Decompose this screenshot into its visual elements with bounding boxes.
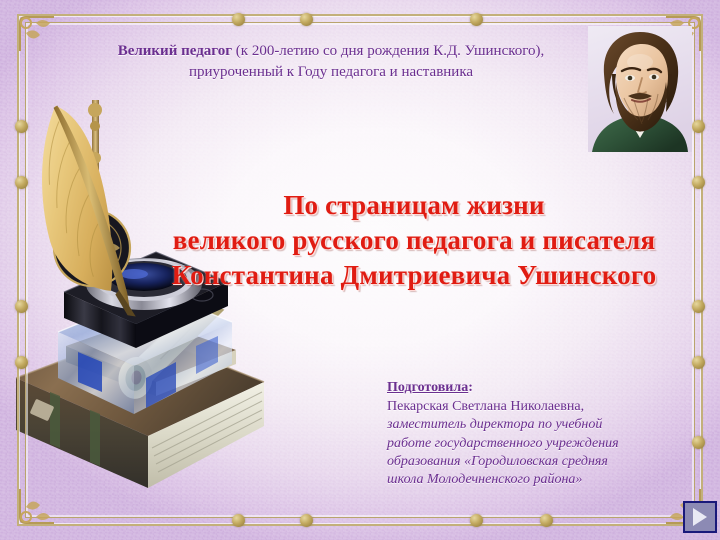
title-line-3: Константина Дмитриевича Ушинского [136,258,692,293]
frame-bead [692,436,705,449]
frame-bead [300,514,313,527]
next-slide-button[interactable] [683,501,717,533]
play-triangle-icon [693,508,707,526]
frame-corner-ornament-top-left [14,11,60,57]
author-heading: Подготовила [387,380,468,395]
title-line-2: великого русского педагога и писателя [136,223,692,258]
frame-bead [540,514,553,527]
page-title: По страницам жизни великого русского пед… [136,188,692,292]
frame-bead [692,176,705,189]
author-heading-row: Подготовила: [387,379,667,397]
frame-bead [470,514,483,527]
header-emphasis: Великий педагог [118,43,232,59]
books-inkwell-quill-illustration [6,96,272,516]
header-line-1-rest: (к 200-летию со дня рождения К.Д. Ушинск… [232,43,544,59]
title-line-1: По страницам жизни [136,188,692,223]
frame-bead [692,300,705,313]
presentation-slide: Великий педагог (к 200-летию со дня рожд… [0,0,720,540]
frame-bead [300,13,313,26]
author-role-line-4: школа Молодечненского района» [387,471,667,489]
frame-bead [470,13,483,26]
author-role-line-1: заместитель директора по учебной [387,416,667,434]
frame-bead [232,13,245,26]
header-subtitle-block: Великий педагог (к 200-летию со дня рожд… [96,41,566,82]
frame-bead [692,356,705,369]
author-heading-colon: : [468,380,473,395]
author-role-line-2: работе государственного учреждения [387,435,667,453]
author-name: Пекарская Светлана Николаевна, [387,398,667,416]
author-credit-block: Подготовила: Пекарская Светлана Николаев… [387,379,667,489]
header-line-1: Великий педагог (к 200-летию со дня рожд… [96,41,566,62]
portrait-of-ushinsky [588,26,692,152]
author-role-line-3: образования «Городиловская средняя [387,453,667,471]
header-line-2: приуроченный к Году педагога и наставник… [96,62,566,83]
frame-bead [692,120,705,133]
